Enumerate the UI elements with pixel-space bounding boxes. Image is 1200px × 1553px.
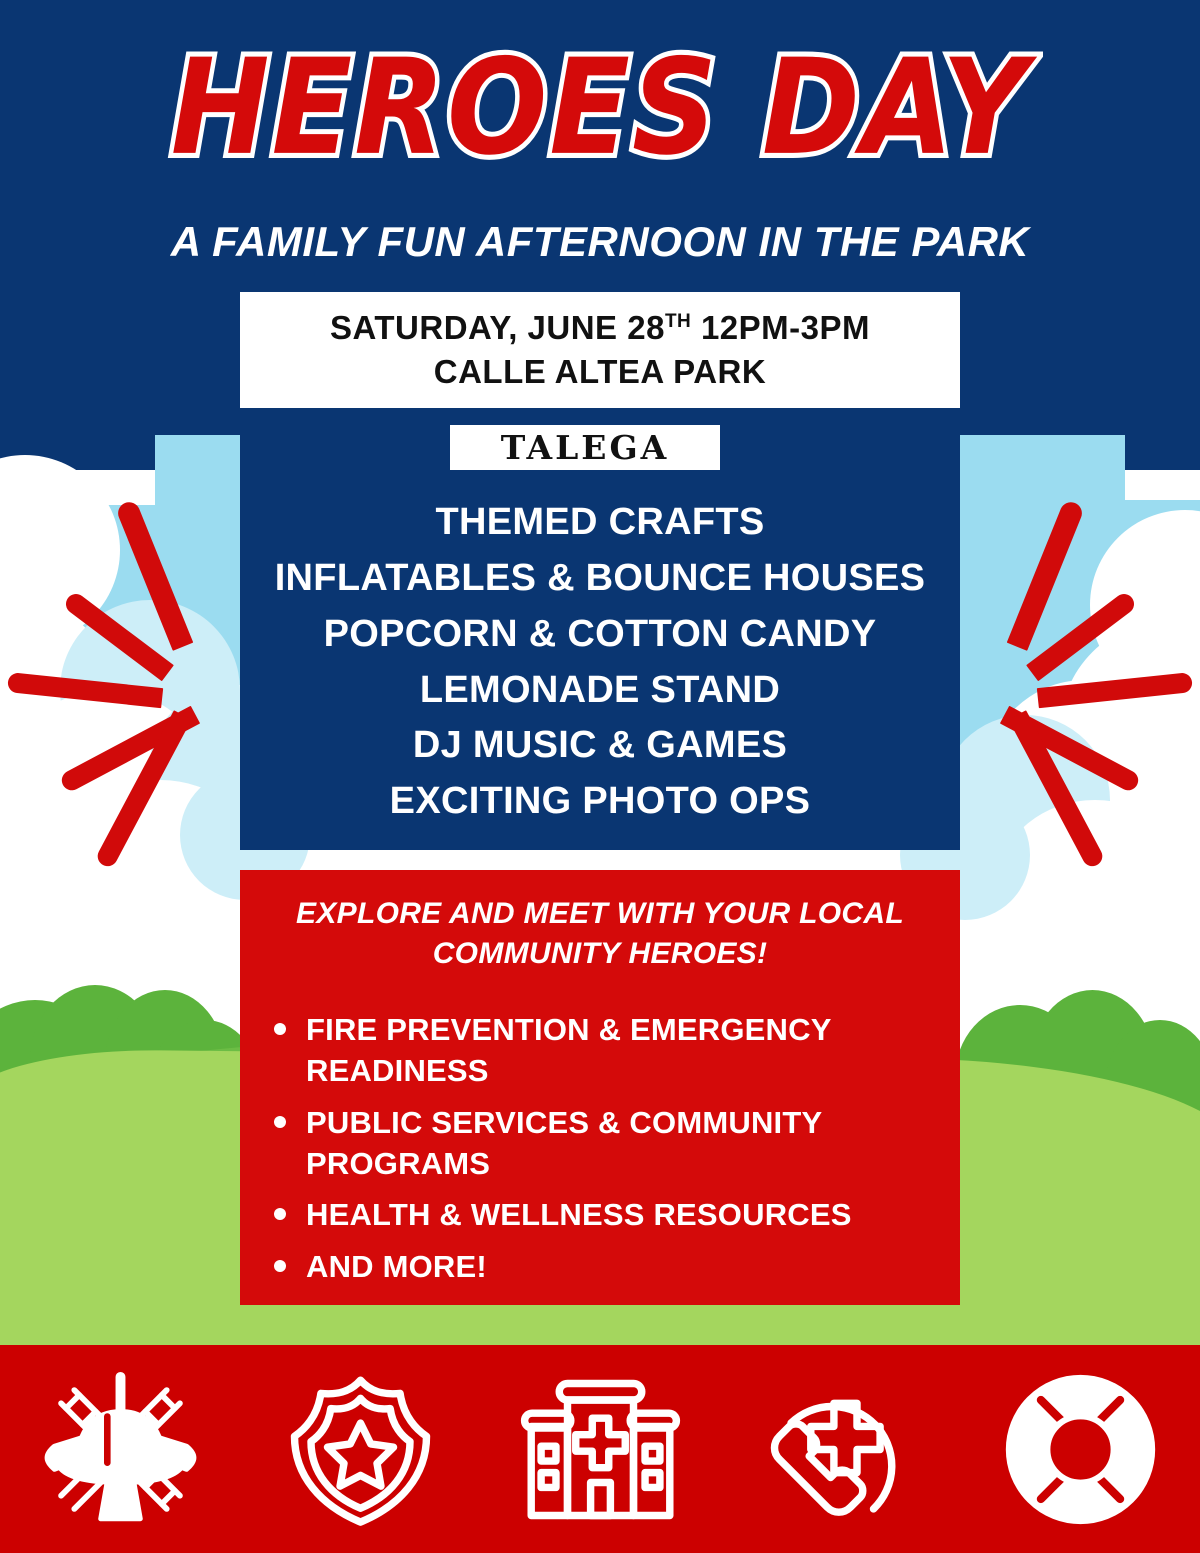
activity-item: INFLATABLES & BOUNCE HOUSES	[240, 551, 960, 607]
page-title: HEROES DAY	[0, 41, 1200, 173]
list-item: AND MORE!	[268, 1247, 926, 1288]
talega-logo-text: TALEGA	[501, 431, 670, 464]
services-icon-band	[0, 1345, 1200, 1553]
heroes-day-flyer: HEROES DAY A FAMILY FUN AFTERNOON IN THE…	[0, 0, 1200, 1553]
activity-item: POPCORN & COTTON CANDY	[240, 607, 960, 663]
bullet-dot-icon	[274, 1208, 286, 1220]
talega-logo: TALEGA	[450, 425, 720, 470]
police-badge-icon	[278, 1367, 443, 1532]
emergency-phone-cross-icon	[758, 1367, 923, 1532]
list-item: HEALTH & WELLNESS RESOURCES	[268, 1195, 926, 1236]
lifebuoy-icon	[998, 1367, 1163, 1532]
bullet-dot-icon	[274, 1023, 286, 1035]
hospital-building-icon	[518, 1367, 683, 1532]
activity-item: EXCITING PHOTO OPS	[240, 774, 960, 830]
list-item-label: FIRE PREVENTION & EMERGENCY READINESS	[306, 1012, 831, 1088]
bullet-dot-icon	[274, 1260, 286, 1272]
list-item-label: PUBLIC SERVICES & COMMUNITY PROGRAMS	[306, 1105, 822, 1181]
event-time: 12PM-3PM	[691, 309, 870, 346]
event-location: CALLE ALTEA PARK	[434, 353, 766, 391]
activity-item: DJ MUSIC & GAMES	[240, 718, 960, 774]
list-item: PUBLIC SERVICES & COMMUNITY PROGRAMS	[268, 1103, 926, 1185]
list-item-label: AND MORE!	[306, 1249, 487, 1284]
activities-list: THEMED CRAFTS INFLATABLES & BOUNCE HOUSE…	[240, 495, 960, 830]
cloud	[1000, 800, 1190, 960]
explore-panel: EXPLORE AND MEET WITH YOUR LOCAL COMMUNI…	[240, 870, 960, 1305]
event-date-prefix: SATURDAY, JUNE 28	[330, 309, 665, 346]
activity-item: LEMONADE STAND	[240, 663, 960, 719]
event-details-box: SATURDAY, JUNE 28TH 12PM-3PM CALLE ALTEA…	[240, 292, 960, 408]
explore-bullet-list: FIRE PREVENTION & EMERGENCY READINESS PU…	[240, 1010, 960, 1288]
firefighter-helmet-icon	[38, 1367, 203, 1532]
activity-item: THEMED CRAFTS	[240, 495, 960, 551]
page-subtitle: A FAMILY FUN AFTERNOON IN THE PARK	[0, 218, 1200, 266]
event-date-ordinal: TH	[665, 311, 691, 332]
bullet-dot-icon	[274, 1116, 286, 1128]
list-item: FIRE PREVENTION & EMERGENCY READINESS	[268, 1010, 926, 1092]
event-date-line: SATURDAY, JUNE 28TH 12PM-3PM	[330, 309, 870, 347]
explore-headline: EXPLORE AND MEET WITH YOUR LOCAL COMMUNI…	[240, 870, 960, 974]
list-item-label: HEALTH & WELLNESS RESOURCES	[306, 1197, 852, 1232]
